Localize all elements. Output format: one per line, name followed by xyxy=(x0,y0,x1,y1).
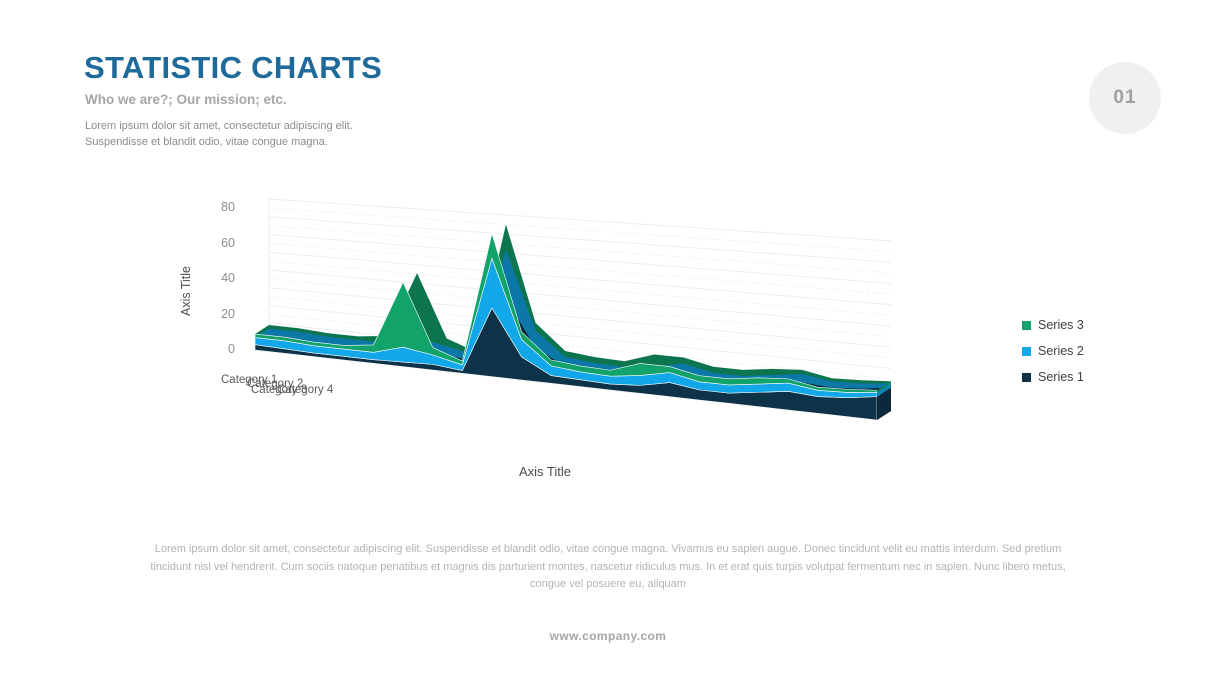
y-axis-tick-80: 80 xyxy=(199,200,235,214)
page-title: STATISTIC CHARTS xyxy=(84,50,382,86)
legend-item-series-3[interactable]: Series 3 xyxy=(1022,312,1084,338)
chart-plot-area xyxy=(237,198,905,438)
legend-swatch-icon xyxy=(1022,373,1031,382)
body-paragraph: Lorem ipsum dolor sit amet, consectetur … xyxy=(138,541,1078,594)
footer-website: www.company.com xyxy=(0,629,1216,643)
y-axis-tick-40: 40 xyxy=(199,271,235,285)
section-number-badge: 01 xyxy=(1089,62,1161,134)
legend-label: Series 1 xyxy=(1038,370,1084,384)
stacked-area-svg xyxy=(237,198,905,438)
page-subtitle: Who we are?; Our mission; etc. xyxy=(85,92,287,107)
y-axis-tick-0: 0 xyxy=(199,342,235,356)
chart-legend: Series 3Series 2Series 1 xyxy=(1022,312,1084,390)
legend-swatch-icon xyxy=(1022,347,1031,356)
y-axis-ticks: 020406080 xyxy=(185,198,235,358)
legend-item-series-2[interactable]: Series 2 xyxy=(1022,338,1084,364)
legend-label: Series 3 xyxy=(1038,318,1084,332)
chart-container: Axis Title 020406080 Category 1 Category… xyxy=(185,198,905,498)
category-label-4: Category 4 xyxy=(277,384,333,396)
legend-item-series-1[interactable]: Series 1 xyxy=(1022,364,1084,390)
x-axis-title: Axis Title xyxy=(185,464,905,479)
lead-paragraph: Lorem ipsum dolor sit amet, consectetur … xyxy=(85,119,353,150)
legend-label: Series 2 xyxy=(1038,344,1084,358)
y-axis-tick-60: 60 xyxy=(199,236,235,250)
slide: STATISTIC CHARTS Who we are?; Our missio… xyxy=(0,0,1216,684)
area-series-series-3 xyxy=(255,234,877,393)
y-axis-tick-20: 20 xyxy=(199,307,235,321)
legend-swatch-icon xyxy=(1022,321,1031,330)
section-number-label: 01 xyxy=(1113,87,1136,109)
